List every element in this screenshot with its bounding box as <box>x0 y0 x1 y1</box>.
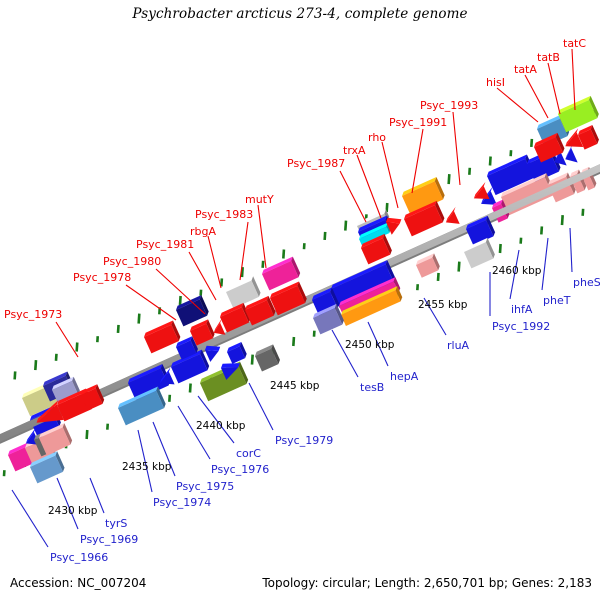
gene-label-ihfa[interactable]: ihfA <box>511 304 532 315</box>
gene-feature[interactable] <box>415 253 441 277</box>
leader-line <box>357 155 381 218</box>
gene-label-rho[interactable]: rho <box>368 132 386 143</box>
gene-label-psyc-1987[interactable]: Psyc_1987 <box>287 158 345 169</box>
gene-label-tatc[interactable]: tatC <box>563 38 586 49</box>
gene-label-psyc-1978[interactable]: Psyc_1978 <box>73 272 131 283</box>
leader-line <box>412 129 423 193</box>
gene-label-tyrs[interactable]: tyrS <box>105 518 127 529</box>
leader-line <box>12 490 48 547</box>
gene-label-psyc-1975[interactable]: Psyc_1975 <box>176 481 234 492</box>
scale-tick-label: 2440 kbp <box>196 421 245 432</box>
scale-tick-label: 2460 kbp <box>492 266 541 277</box>
gene-label-psyc-1983[interactable]: Psyc_1983 <box>195 209 253 220</box>
leader-line <box>126 285 176 320</box>
scale-tick-label: 2445 kbp <box>270 381 319 392</box>
leader-line <box>178 406 210 459</box>
accession-text: Accession: NC_007204 <box>10 576 146 590</box>
gene-label-muty[interactable]: mutY <box>245 194 274 205</box>
gene-label-psyc-1974[interactable]: Psyc_1974 <box>153 497 211 508</box>
gene-label-psyc-1993[interactable]: Psyc_1993 <box>420 100 478 111</box>
leader-line <box>56 322 78 357</box>
gene-feature[interactable] <box>463 238 497 268</box>
leader-line <box>340 171 366 222</box>
leader-line <box>548 63 560 114</box>
leader-line <box>382 142 398 208</box>
reverse-strand-features[interactable] <box>7 144 598 484</box>
leader-line <box>497 88 538 122</box>
gene-label-rbga[interactable]: rbgA <box>190 226 216 237</box>
gene-label-phes[interactable]: pheS <box>573 277 600 288</box>
leader-line <box>189 252 216 300</box>
leader-line <box>453 112 460 185</box>
gene-feature[interactable] <box>442 207 463 229</box>
scale-tick-label: 2435 kbp <box>122 462 171 473</box>
leader-line <box>572 49 575 110</box>
leader-line <box>332 330 358 377</box>
scale-tick-label: 2450 kbp <box>345 340 394 351</box>
leader-line <box>525 75 548 118</box>
gene-feature[interactable] <box>226 342 248 364</box>
gene-label-hisi[interactable]: hisI <box>486 77 505 88</box>
gene-label-rlua[interactable]: rluA <box>447 340 469 351</box>
scale-tick-label: 2455 kbp <box>418 300 467 311</box>
scale-tick-label: 2430 kbp <box>48 506 97 517</box>
genome-map-viewer: Psychrobacter arcticus 273-4, complete g… <box>0 0 600 600</box>
gene-label-psyc-1976[interactable]: Psyc_1976 <box>211 464 269 475</box>
gene-label-hepa[interactable]: hepA <box>390 371 418 382</box>
gene-feature[interactable] <box>143 320 182 353</box>
gene-label-psyc-1973[interactable]: Psyc_1973 <box>4 309 62 320</box>
gene-label-psyc-1966[interactable]: Psyc_1966 <box>50 552 108 563</box>
gene-label-psyc-1992[interactable]: Psyc_1992 <box>492 321 550 332</box>
leader-line <box>240 222 248 280</box>
gene-label-tesb[interactable]: tesB <box>360 382 384 393</box>
leader-line <box>57 478 78 529</box>
gene-label-trxa[interactable]: trxA <box>343 145 366 156</box>
gene-label-psyc-1981[interactable]: Psyc_1981 <box>136 239 194 250</box>
leader-line <box>208 236 221 288</box>
genome-summary-text: Topology: circular; Length: 2,650,701 bp… <box>262 576 592 590</box>
gene-label-psyc-1969[interactable]: Psyc_1969 <box>80 534 138 545</box>
gene-label-tata[interactable]: tatA <box>514 64 537 75</box>
gene-label-psyc-1979[interactable]: Psyc_1979 <box>275 435 333 446</box>
status-bar: Accession: NC_007204 Topology: circular;… <box>0 576 600 594</box>
gene-label-tatb[interactable]: tatB <box>537 52 560 63</box>
gene-feature[interactable] <box>254 344 282 371</box>
gene-label-psyc-1980[interactable]: Psyc_1980 <box>103 256 161 267</box>
leader-line <box>542 238 548 290</box>
leader-line <box>570 228 572 272</box>
gene-label-corc[interactable]: corC <box>236 448 261 459</box>
gene-label-phet[interactable]: pheT <box>543 295 570 306</box>
gene-label-psyc-1991[interactable]: Psyc_1991 <box>389 117 447 128</box>
leader-line <box>258 205 266 268</box>
